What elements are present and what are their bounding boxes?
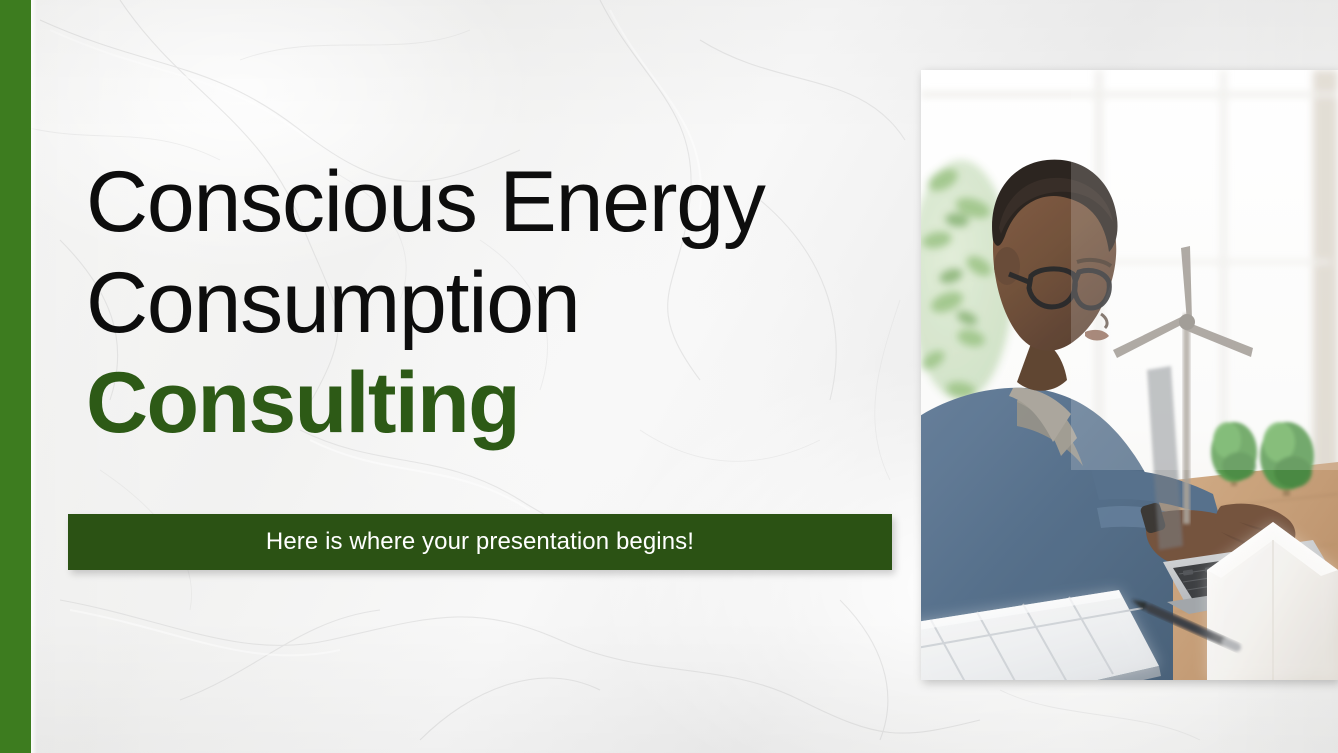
photo-illustration (921, 70, 1338, 680)
accent-bar-decoration (0, 0, 31, 753)
accent-bar-highlight (31, 0, 37, 753)
subtitle-band: Here is where your presentation begins! (68, 514, 892, 570)
photo-image (921, 70, 1338, 680)
page-title: Conscious Energy Consumption Consulting (86, 152, 906, 454)
presentation-title-slide: Conscious Energy Consumption Consulting … (0, 0, 1338, 753)
title-line-1: Conscious Energy (86, 152, 906, 253)
title-line-accent: Consulting (86, 353, 906, 454)
subtitle-text: Here is where your presentation begins! (266, 528, 694, 556)
title-line-2: Consumption (86, 253, 906, 354)
